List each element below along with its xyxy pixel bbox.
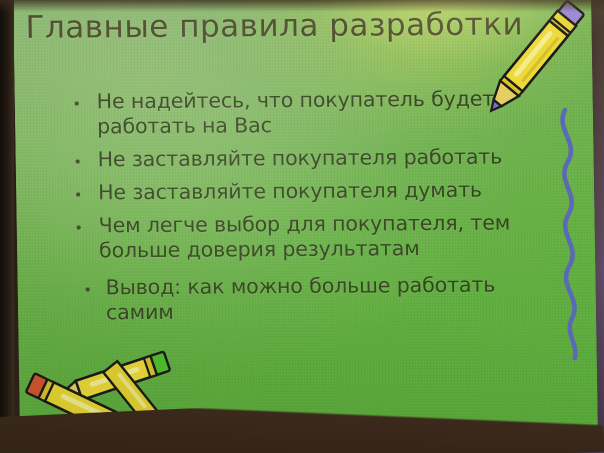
bullet-line-1: Чем легче выбор для покупателя, тем [98, 211, 510, 238]
screen-left-edge [0, 0, 14, 453]
bullet-line-2: самим [106, 300, 174, 324]
bullet-item: Чем легче выбор для покупателя, тем боль… [68, 210, 539, 263]
screen-top-edge [0, 0, 604, 12]
slide-title: Главные правила разработки [25, 6, 516, 45]
bullet-item: Не заставляйте покупателя думать [68, 177, 538, 205]
photograph-of-projected-slide: Главные правила разработки Не надейтесь,… [0, 0, 604, 453]
bullet-line-1: Не заставляйте покупателя думать [98, 178, 482, 205]
bullet-line-1: Не надейтесь, что покупатель будет [97, 87, 495, 114]
bullet-line-2: работать на Вас [97, 113, 272, 138]
bullet-item: Не заставляйте покупателя работать [67, 144, 537, 172]
bullet-line-2: больше доверия результатам [99, 236, 420, 262]
bullet-line-1: Вывод: как можно больше работать [105, 273, 495, 300]
slide-content: Главные правила разработки Не надейтесь,… [13, 0, 598, 446]
bullet-item: Вывод: как можно больше работать самим [75, 272, 540, 325]
squiggle-line-icon [545, 108, 593, 360]
bullet-list: Не надейтесь, что покупатель будет работ… [67, 86, 541, 333]
bullet-item: Не надейтесь, что покупатель будет работ… [67, 86, 538, 139]
bullet-line-1: Не заставляйте покупателя работать [97, 145, 502, 172]
projection-screen: Главные правила разработки Не надейтесь,… [13, 0, 598, 446]
